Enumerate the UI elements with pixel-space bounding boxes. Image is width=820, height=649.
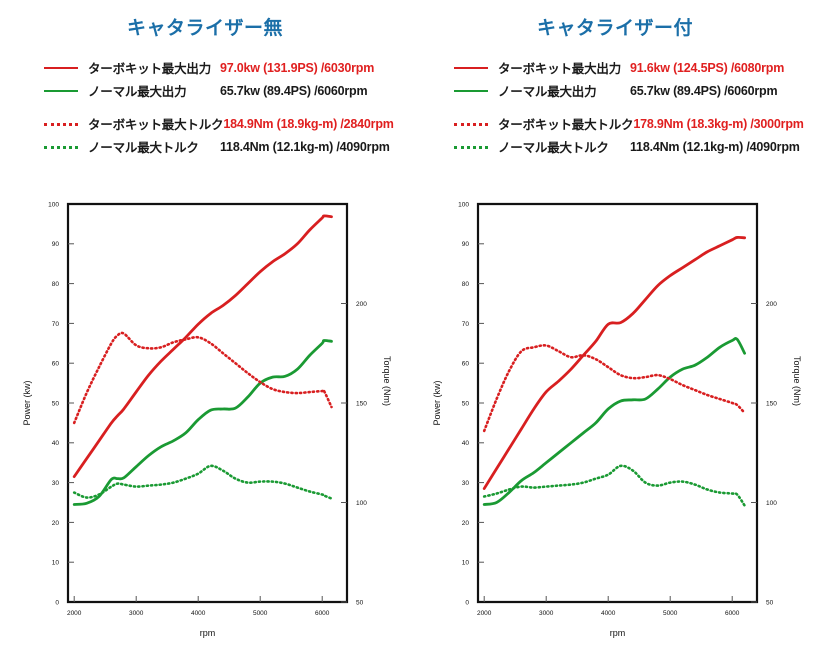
legend-row-turbo-power: ターボキット最大出力 91.6kw (124.5PS) /6080rpm — [454, 56, 804, 79]
legend-with-catalyzer: ターボキット最大出力 91.6kw (124.5PS) /6080rpm ノーマ… — [454, 56, 804, 158]
legend-item-label: ターボキット最大トルク — [498, 114, 633, 133]
legend-item-label: ターボキット最大出力 — [88, 58, 220, 77]
y-tick-label: 80 — [52, 281, 60, 288]
dyno-chart-svg: 0102030405060708090100501001502002000300… — [410, 190, 820, 645]
y-tick-label: 20 — [462, 520, 470, 527]
plot-frame — [68, 204, 347, 602]
panel-without-catalyzer: キャタライザー無 ターボキット最大出力 97.0kw (131.9PS) /60… — [0, 0, 410, 649]
x-tick-label: 2000 — [477, 610, 492, 617]
y-tick-label: 10 — [52, 560, 60, 567]
x-tick-label: 4000 — [601, 610, 616, 617]
legend-item-value: 97.0kw (131.9PS) /6030rpm — [220, 61, 374, 75]
y2-tick-label: 100 — [356, 500, 367, 507]
series-curve-torque-turbo-2 — [74, 333, 331, 423]
x-tick-label: 4000 — [191, 610, 206, 617]
y2-tick-label: 100 — [766, 500, 777, 507]
y-tick-label: 30 — [52, 480, 60, 487]
legend-row-turbo-power: ターボキット最大出力 97.0kw (131.9PS) /6030rpm — [44, 56, 394, 79]
legend-row-normal-torque: ノーマル最大トルク 118.4Nm (12.1kg-m) /4090rpm — [44, 135, 394, 158]
y-tick-label: 80 — [462, 281, 470, 288]
legend-group-power: ターボキット最大出力 97.0kw (131.9PS) /6030rpm ノーマ… — [44, 56, 394, 102]
legend-group-torque: ターボキット最大トルク 178.9Nm (18.3kg-m) /3000rpm … — [454, 112, 804, 158]
y-axis-title: Power (kw) — [22, 380, 32, 425]
y2-tick-label: 50 — [356, 599, 364, 606]
y2-tick-label: 150 — [356, 400, 367, 407]
y-tick-label: 60 — [462, 361, 470, 368]
x-tick-label: 6000 — [315, 610, 330, 617]
legend-item-value: 65.7kw (89.4PS) /6060rpm — [220, 84, 367, 98]
legend-row-normal-torque: ノーマル最大トルク 118.4Nm (12.1kg-m) /4090rpm — [454, 135, 804, 158]
y-tick-label: 90 — [52, 241, 60, 248]
legend-group-power: ターボキット最大出力 91.6kw (124.5PS) /6080rpm ノーマ… — [454, 56, 804, 102]
series-curve-torque-normal-3 — [484, 466, 744, 506]
x-tick-label: 5000 — [663, 610, 678, 617]
dyno-comparison-sheet: キャタライザー無 ターボキット最大出力 97.0kw (131.9PS) /60… — [0, 0, 820, 649]
legend-item-value: 118.4Nm (12.1kg-m) /4090rpm — [630, 140, 800, 154]
legend-row-normal-power: ノーマル最大出力 65.7kw (89.4PS) /6060rpm — [44, 79, 394, 102]
series-curve-power-turbo-0 — [74, 216, 331, 477]
chart-without-catalyzer: 0102030405060708090100501001502002000300… — [0, 190, 410, 645]
legend-item-label: ターボキット最大出力 — [498, 58, 630, 77]
legend-without-catalyzer: ターボキット最大出力 97.0kw (131.9PS) /6030rpm ノーマ… — [44, 56, 394, 158]
x-axis-title: rpm — [200, 628, 216, 638]
legend-item-value: 65.7kw (89.4PS) /6060rpm — [630, 84, 777, 98]
legend-item-value: 184.9Nm (18.9kg-m) /2840rpm — [223, 117, 393, 131]
y-tick-label: 10 — [462, 560, 470, 567]
x-tick-label: 6000 — [725, 610, 740, 617]
series-curve-power-normal-1 — [484, 338, 744, 504]
panel-title: キャタライザー無 — [0, 16, 410, 42]
y-tick-label: 50 — [52, 400, 60, 407]
x-tick-label: 3000 — [539, 610, 554, 617]
y-tick-label: 100 — [48, 201, 59, 208]
chart-with-catalyzer: 0102030405060708090100501001502002000300… — [410, 190, 820, 645]
legend-row-turbo-torque: ターボキット最大トルク 184.9Nm (18.9kg-m) /2840rpm — [44, 112, 394, 135]
series-curve-torque-normal-3 — [74, 466, 331, 499]
legend-item-label: ノーマル最大トルク — [88, 137, 220, 156]
panel-with-catalyzer: キャタライザー付 ターボキット最大出力 91.6kw (124.5PS) /60… — [410, 0, 820, 649]
y-tick-label: 90 — [462, 241, 470, 248]
y-tick-label: 60 — [52, 361, 60, 368]
legend-item-value: 118.4Nm (12.1kg-m) /4090rpm — [220, 140, 390, 154]
y-tick-label: 20 — [52, 520, 60, 527]
legend-item-value: 178.9Nm (18.3kg-m) /3000rpm — [633, 117, 803, 131]
y2-tick-label: 150 — [766, 400, 777, 407]
y-tick-label: 40 — [462, 440, 470, 447]
legend-item-label: ノーマル最大出力 — [88, 81, 220, 100]
x-tick-label: 2000 — [67, 610, 82, 617]
series-curve-power-turbo-0 — [484, 237, 744, 488]
y2-tick-label: 200 — [356, 301, 367, 308]
y2-tick-label: 200 — [766, 301, 777, 308]
y-tick-label: 40 — [52, 440, 60, 447]
x-tick-label: 3000 — [129, 610, 144, 617]
y-tick-label: 0 — [55, 599, 59, 606]
y2-axis-title: Torque (Nm) — [792, 356, 802, 406]
x-tick-label: 5000 — [253, 610, 268, 617]
y2-tick-label: 50 — [766, 599, 774, 606]
legend-row-turbo-torque: ターボキット最大トルク 178.9Nm (18.3kg-m) /3000rpm — [454, 112, 804, 135]
y-tick-label: 50 — [462, 400, 470, 407]
y-tick-label: 100 — [458, 201, 469, 208]
y-tick-label: 30 — [462, 480, 470, 487]
legend-item-label: ノーマル最大出力 — [498, 81, 630, 100]
legend-item-value: 91.6kw (124.5PS) /6080rpm — [630, 61, 784, 75]
x-axis-title: rpm — [610, 628, 626, 638]
legend-item-label: ノーマル最大トルク — [498, 137, 630, 156]
panel-title: キャタライザー付 — [410, 16, 820, 42]
y-axis-title: Power (kw) — [432, 380, 442, 425]
y-tick-label: 0 — [465, 599, 469, 606]
dyno-chart-svg: 0102030405060708090100501001502002000300… — [0, 190, 410, 645]
legend-row-normal-power: ノーマル最大出力 65.7kw (89.4PS) /6060rpm — [454, 79, 804, 102]
legend-group-torque: ターボキット最大トルク 184.9Nm (18.9kg-m) /2840rpm … — [44, 112, 394, 158]
y-tick-label: 70 — [52, 321, 60, 328]
y-tick-label: 70 — [462, 321, 470, 328]
y2-axis-title: Torque (Nm) — [382, 356, 392, 406]
legend-item-label: ターボキット最大トルク — [88, 114, 223, 133]
